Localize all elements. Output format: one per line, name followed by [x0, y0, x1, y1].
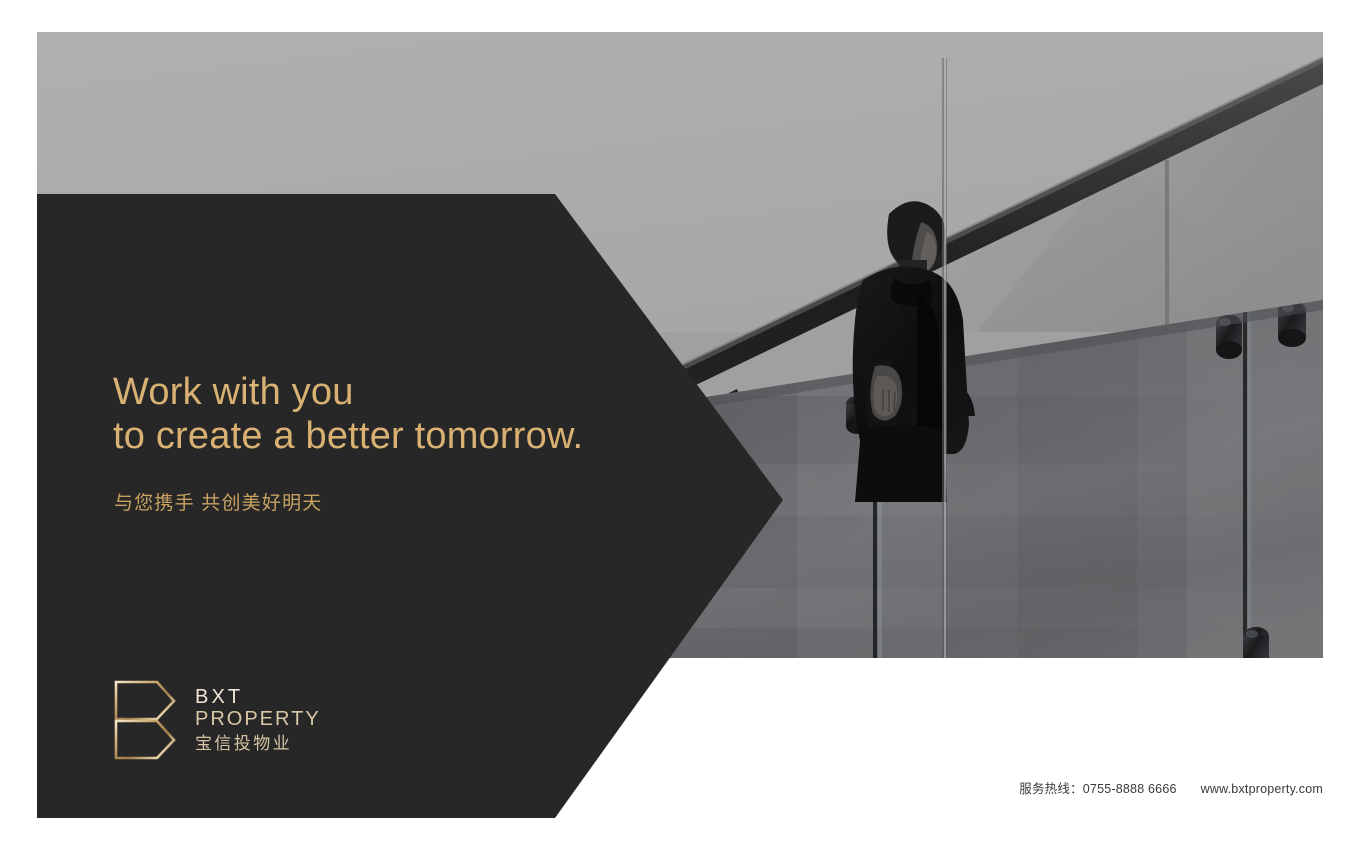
dark-arrow-panel [37, 194, 783, 818]
footer-hotline: 服务热线：0755-8888 6666 [1019, 778, 1176, 797]
footer-website[interactable]: www.bxtproperty.com [1201, 782, 1323, 796]
footer-contact: 服务热线：0755-8888 6666 www.bxtproperty.com [1019, 778, 1323, 797]
arrow-panel-shape [37, 194, 783, 818]
poster-canvas: Work with you to create a better tomorro… [0, 0, 1360, 850]
